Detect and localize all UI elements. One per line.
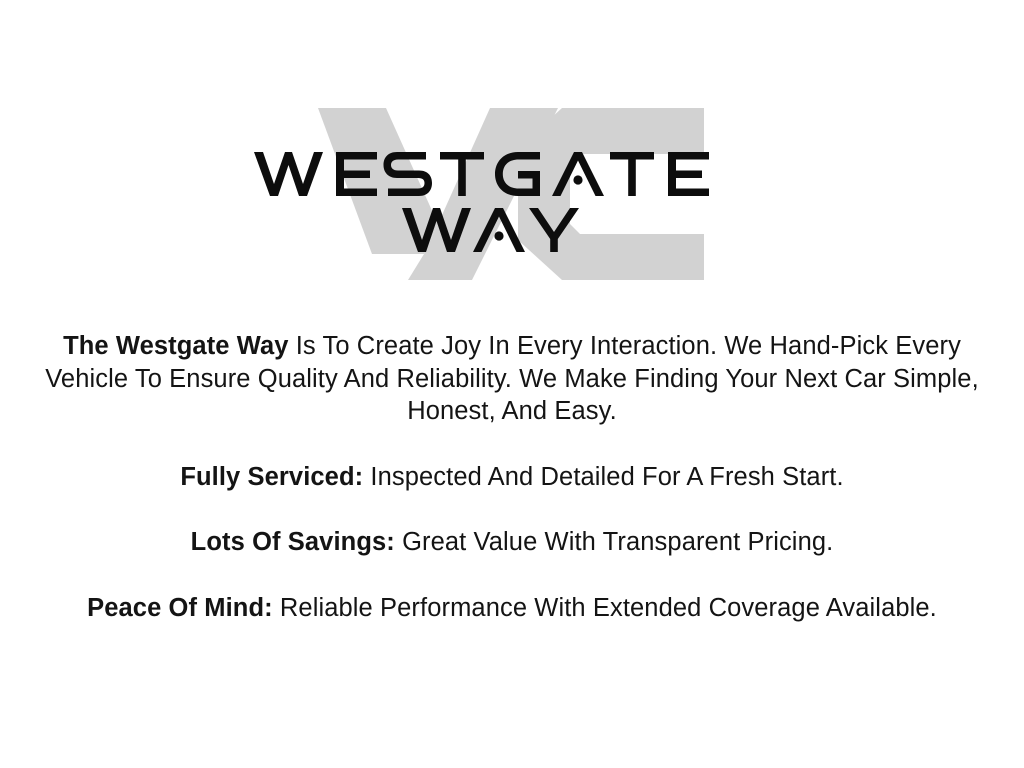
spacer [22,559,1002,592]
westgate-way-wordmark [0,104,1024,294]
feature-label: Fully Serviced: [180,463,363,491]
intro-paragraph: The Westgate Way Is To Create Joy In Eve… [22,330,1002,428]
feature-label: Peace Of Mind: [87,594,273,622]
feature-text: Great Value With Transparent Pricing. [395,528,833,556]
logo-block [0,104,1024,294]
feature-peace-of-mind: Peace Of Mind: Reliable Performance With… [22,592,1002,625]
feature-text: Inspected And Detailed For A Fresh Start… [363,463,843,491]
feature-lots-of-savings: Lots Of Savings: Great Value With Transp… [22,526,1002,559]
feature-fully-serviced: Fully Serviced: Inspected And Detailed F… [22,461,1002,494]
feature-text: Reliable Performance With Extended Cover… [273,594,937,622]
marketing-copy: The Westgate Way Is To Create Joy In Eve… [22,330,1002,624]
spacer [22,493,1002,526]
feature-label: Lots Of Savings: [191,528,395,556]
spacer [22,428,1002,461]
intro-lead: The Westgate Way [63,332,288,360]
slide-canvas: The Westgate Way Is To Create Joy In Eve… [0,0,1024,768]
